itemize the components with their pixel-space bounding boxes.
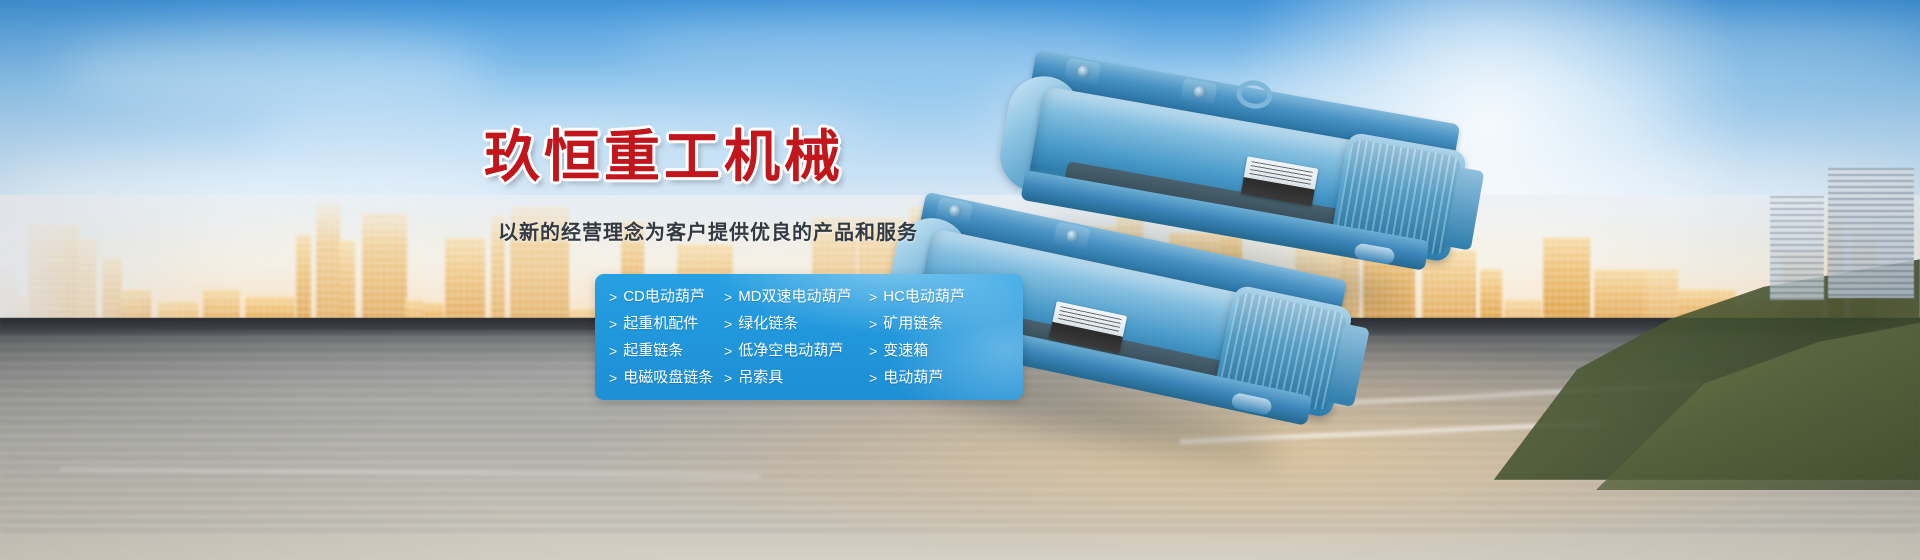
product-link-label: 绿化链条	[738, 316, 798, 331]
chevron-right-icon: >	[609, 371, 617, 385]
chevron-right-icon: >	[869, 371, 877, 385]
chevron-right-icon: >	[724, 371, 732, 385]
banner-subheadline: 以新的经营理念为客户提供优良的产品和服务	[498, 216, 918, 245]
chevron-right-icon: >	[724, 344, 732, 358]
product-link-label: 吊索具	[738, 370, 783, 385]
product-link[interactable]: >绿化链条	[724, 310, 869, 337]
product-link-label: MD双速电动葫芦	[738, 289, 851, 304]
background-building	[1828, 168, 1914, 298]
product-link[interactable]: >吊索具	[724, 364, 869, 391]
product-link[interactable]: >起重链条	[609, 337, 724, 364]
product-link-label: 矿用链条	[883, 316, 943, 331]
chevron-right-icon: >	[869, 317, 877, 331]
chevron-right-icon: >	[869, 290, 877, 304]
product-link-label: 起重链条	[623, 343, 683, 358]
product-link-label: HC电动葫芦	[883, 289, 965, 304]
product-link[interactable]: >矿用链条	[869, 310, 1023, 337]
chevron-right-icon: >	[869, 344, 877, 358]
background-building	[1770, 196, 1824, 300]
product-link[interactable]: >CD电动葫芦	[609, 283, 724, 310]
product-link-label: 电动葫芦	[883, 370, 943, 385]
product-link[interactable]: >HC电动葫芦	[869, 283, 1023, 310]
product-link-label: CD电动葫芦	[623, 289, 705, 304]
product-link[interactable]: >电动葫芦	[869, 364, 1023, 391]
product-link[interactable]: >MD双速电动葫芦	[724, 283, 869, 310]
chevron-right-icon: >	[609, 317, 617, 331]
product-link-label: 电磁吸盘链条	[623, 370, 713, 385]
product-link[interactable]: >低净空电动葫芦	[724, 337, 869, 364]
chevron-right-icon: >	[724, 290, 732, 304]
banner-headline: 玖恒重工机械	[484, 112, 844, 193]
hero-banner: 玖恒重工机械 以新的经营理念为客户提供优良的产品和服务 >CD电动葫芦>MD双速…	[0, 0, 1920, 560]
product-link[interactable]: >起重机配件	[609, 310, 724, 337]
product-link-label: 起重机配件	[623, 316, 698, 331]
product-list-box: >CD电动葫芦>MD双速电动葫芦>HC电动葫芦>起重机配件>绿化链条>矿用链条>…	[595, 274, 1023, 400]
product-link[interactable]: >变速箱	[869, 337, 1023, 364]
product-link-label: 低净空电动葫芦	[738, 343, 843, 358]
chevron-right-icon: >	[609, 344, 617, 358]
product-list-grid: >CD电动葫芦>MD双速电动葫芦>HC电动葫芦>起重机配件>绿化链条>矿用链条>…	[595, 274, 1023, 400]
product-link[interactable]: >电磁吸盘链条	[609, 364, 724, 391]
chevron-right-icon: >	[724, 317, 732, 331]
city-fade-left	[0, 195, 200, 335]
chevron-right-icon: >	[609, 290, 617, 304]
product-link-label: 变速箱	[883, 343, 928, 358]
